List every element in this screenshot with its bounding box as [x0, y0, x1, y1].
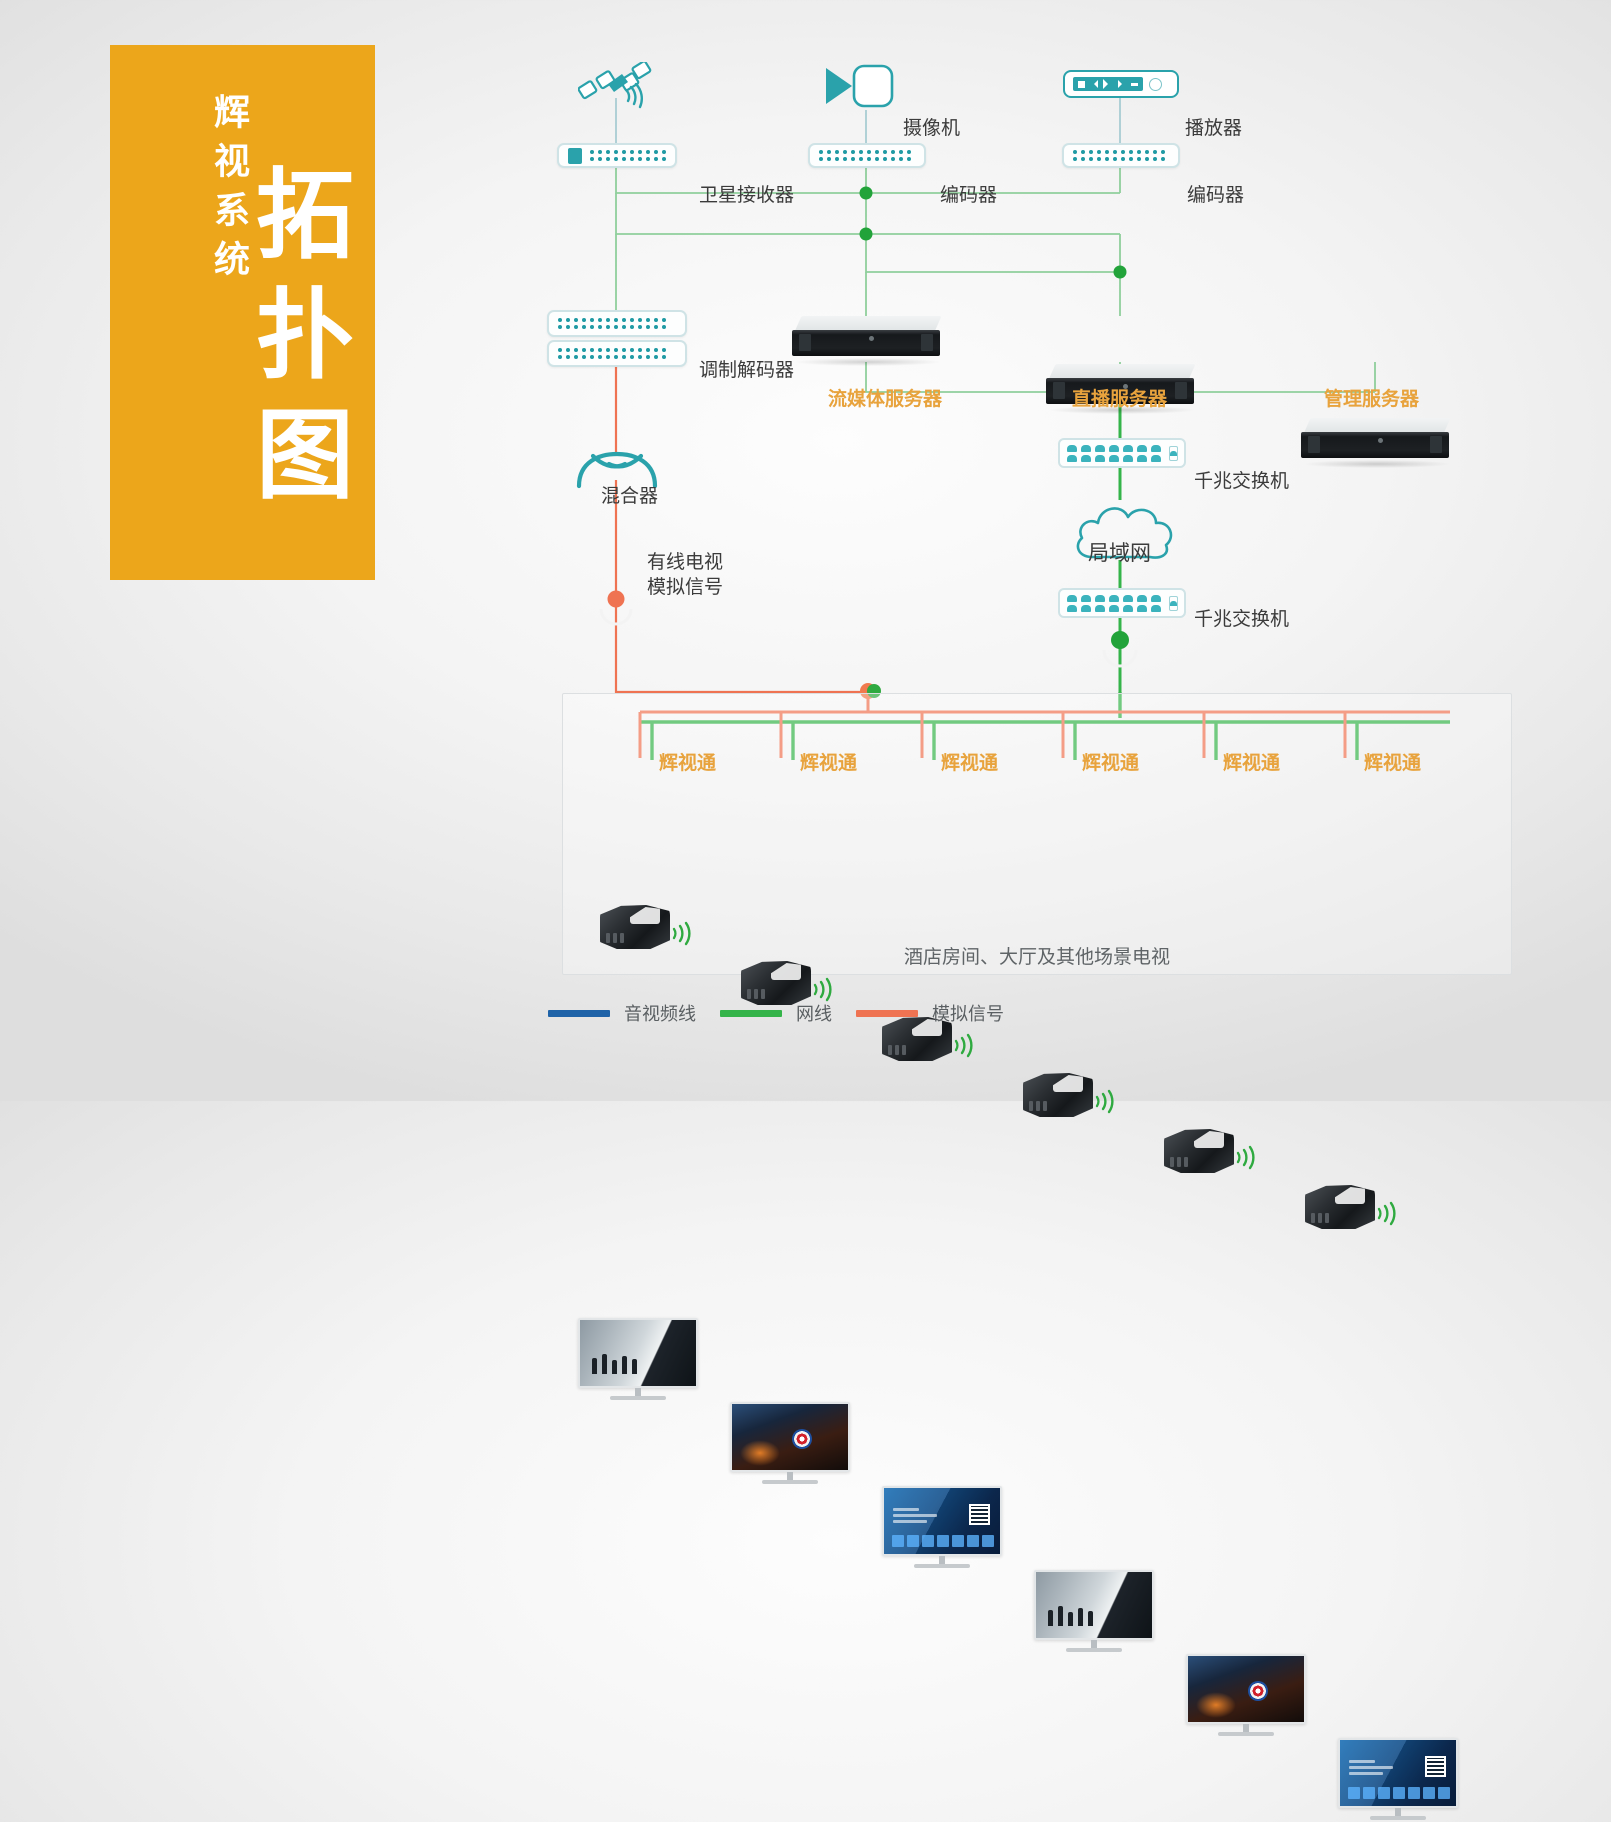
- tv-stand: [1395, 1808, 1401, 1816]
- streaming-server-label: 流媒体服务器: [828, 384, 942, 411]
- server-uplink-lines: [866, 272, 1120, 316]
- set-top-box-label-5: 辉视通: [1223, 748, 1280, 775]
- live-server-label: 直播服务器: [1072, 384, 1167, 411]
- video-camera-icon: [824, 62, 894, 115]
- tv-6[interactable]: [1338, 1738, 1458, 1822]
- port-grid: [590, 150, 666, 161]
- tv-1[interactable]: [578, 1318, 698, 1402]
- lan-cloud-label: 局域网: [1088, 537, 1151, 567]
- set-top-box-4[interactable]: [1023, 1067, 1097, 1123]
- legend-swatch-network-cable: [720, 1010, 782, 1017]
- management-server-icon[interactable]: [1301, 418, 1451, 466]
- media-player-icon: [1063, 70, 1179, 98]
- satellite-dish-icon: [578, 62, 664, 115]
- modulator-icon[interactable]: [547, 310, 687, 367]
- room-caption: 酒店房间、大厅及其他场景电视: [563, 942, 1511, 969]
- wifi-signal-icon: [1093, 1087, 1119, 1115]
- tv-stand: [939, 1556, 945, 1564]
- tv-screen: [1034, 1570, 1154, 1640]
- port-grid: [1073, 150, 1165, 161]
- tv-stand: [787, 1472, 793, 1480]
- wifi-signal-icon: [811, 975, 837, 1003]
- legend-label-analog-signal: 模拟信号: [932, 1000, 1004, 1026]
- legend-label-av-cable: 音视频线: [624, 1000, 696, 1026]
- legend: 音视频线 网线 模拟信号: [548, 1000, 1014, 1026]
- satellite-receiver-label: 卫星接收器: [699, 180, 794, 207]
- legend-swatch-analog-signal: [856, 1010, 918, 1017]
- tv-stand: [1091, 1640, 1097, 1648]
- tv-4[interactable]: [1034, 1570, 1154, 1654]
- management-server-label: 管理服务器: [1324, 384, 1419, 411]
- wifi-signal-icon: [952, 1031, 978, 1059]
- switch-status-led: [1169, 596, 1178, 611]
- tv-screen: [730, 1402, 850, 1472]
- tv-3[interactable]: [882, 1486, 1002, 1570]
- wifi-signal-icon: [1234, 1143, 1260, 1171]
- satellite-receiver-device[interactable]: [557, 143, 677, 168]
- gigabit-switch-top[interactable]: [1058, 438, 1186, 468]
- endpoint-room-area: 酒店房间、大厅及其他场景电视: [562, 693, 1512, 975]
- wifi-signal-icon: [670, 919, 696, 947]
- receiver-indicator-block: [568, 148, 582, 164]
- switch-ports: [1067, 445, 1161, 462]
- port-grid: [558, 318, 666, 329]
- tv-base: [762, 1480, 818, 1484]
- camera-label: 摄像机: [903, 113, 960, 140]
- tv-stand: [1243, 1724, 1249, 1732]
- tv-base: [914, 1564, 970, 1568]
- gigabit-switch-bottom-label: 千兆交换机: [1194, 604, 1289, 631]
- set-top-box-5[interactable]: [1164, 1123, 1238, 1179]
- port-grid: [819, 150, 911, 161]
- modulator-label: 调制解码器: [699, 355, 794, 382]
- tv-base: [1066, 1648, 1122, 1652]
- analog-path-label-2: 模拟信号: [647, 572, 723, 599]
- mixer-label: 混合器: [601, 481, 658, 508]
- wifi-signal-icon: [1375, 1199, 1401, 1227]
- set-top-box-label-2: 辉视通: [800, 748, 857, 775]
- tv-screen: [1186, 1654, 1306, 1724]
- set-top-box-6[interactable]: [1305, 1179, 1379, 1235]
- tv-screen: [578, 1318, 698, 1388]
- tv-base: [1370, 1816, 1426, 1820]
- analog-path-label-1: 有线电视: [647, 547, 723, 574]
- legend-label-network-cable: 网线: [796, 1000, 832, 1026]
- encoder-device-2[interactable]: [1062, 143, 1180, 168]
- gigabit-switch-bottom[interactable]: [1058, 588, 1186, 618]
- junction-dots: [601, 187, 1136, 700]
- port-grid: [558, 348, 666, 359]
- gigabit-switch-top-label: 千兆交换机: [1194, 466, 1289, 493]
- set-top-box-label-1: 辉视通: [659, 748, 716, 775]
- set-top-box-label-4: 辉视通: [1082, 748, 1139, 775]
- encoder-label-1: 编码器: [940, 180, 997, 207]
- tv-2[interactable]: [730, 1402, 850, 1486]
- encoder-label-2: 编码器: [1187, 180, 1244, 207]
- analog-signal-lines: [616, 366, 868, 692]
- switch-ports: [1067, 595, 1161, 612]
- set-top-box-1[interactable]: [600, 899, 674, 955]
- set-top-box-label-3: 辉视通: [941, 748, 998, 775]
- switch-status-led: [1169, 446, 1178, 461]
- player-label: 播放器: [1185, 113, 1242, 140]
- tv-base: [610, 1396, 666, 1400]
- legend-swatch-av-cable: [548, 1010, 610, 1017]
- streaming-server-icon[interactable]: [792, 316, 942, 364]
- tv-screen: [882, 1486, 1002, 1556]
- encoder-device-1[interactable]: [808, 143, 926, 168]
- set-top-box-label-6: 辉视通: [1364, 748, 1421, 775]
- tv-5[interactable]: [1186, 1654, 1306, 1738]
- tv-stand: [635, 1388, 641, 1396]
- tv-base: [1218, 1732, 1274, 1736]
- tv-screen: [1338, 1738, 1458, 1808]
